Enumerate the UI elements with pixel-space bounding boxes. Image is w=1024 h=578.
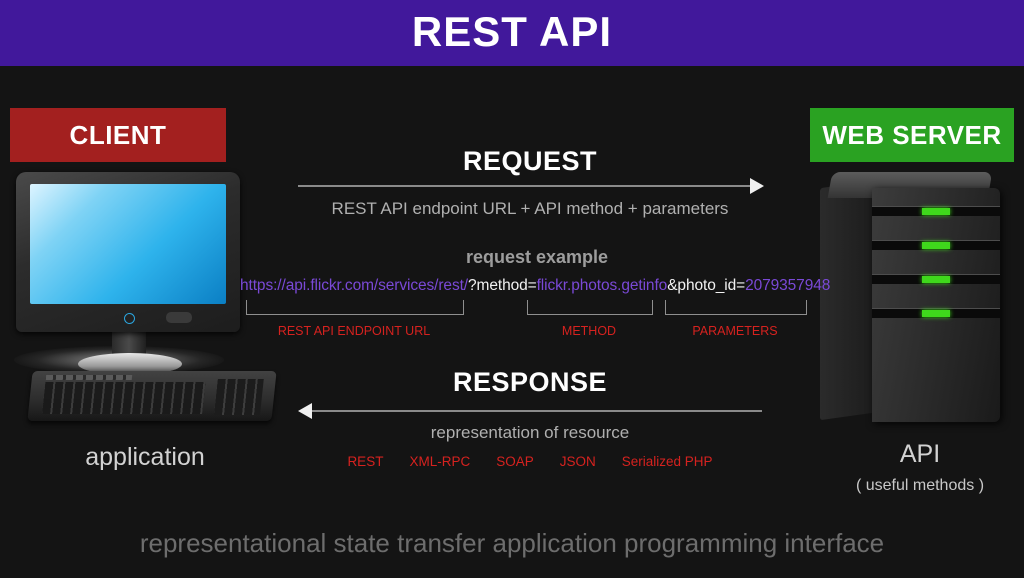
format-rest: REST (347, 454, 383, 469)
server-caption: API (820, 440, 1020, 469)
format-serialized-php: Serialized PHP (622, 454, 713, 469)
server-led-icon (922, 242, 950, 249)
annotation-label-method: METHOD (527, 324, 651, 338)
request-arrow-head-icon (750, 178, 764, 194)
desktop-computer-icon (8, 170, 288, 420)
page-title: REST API (0, 4, 1024, 60)
response-arrow-line (312, 410, 762, 412)
client-badge: CLIENT (10, 108, 226, 162)
monitor-screen (30, 184, 226, 304)
power-indicator-icon (124, 313, 135, 324)
server-caption-sub: ( useful methods ) (820, 477, 1020, 495)
url-segment-method-value: flickr.photos.getinfo (537, 277, 668, 294)
brace-parameters (665, 300, 807, 315)
server-led-icon (922, 208, 950, 215)
server-drive-slot (872, 240, 1000, 250)
server-led-icon (922, 276, 950, 283)
url-segment-param-key: &photo_id= (667, 277, 745, 294)
footer-caption: representational state transfer applicat… (0, 528, 1024, 559)
client-caption: application (10, 443, 280, 472)
keyboard-numpad (214, 379, 264, 415)
rest-api-diagram: REST API CLIENT WEB SERVER (0, 0, 1024, 578)
url-segment-method-key: ?method= (468, 277, 537, 294)
web-server-badge-label: WEB SERVER (822, 120, 1001, 151)
web-server-badge: WEB SERVER (810, 108, 1014, 162)
response-formats: RESTXML-RPCSOAPJSONSerialized PHP (290, 454, 770, 469)
response-arrow-head-icon (298, 403, 312, 419)
url-segment-param-value: 2079357948 (745, 277, 830, 294)
keyboard-icon (27, 371, 276, 421)
format-soap: SOAP (496, 454, 534, 469)
response-subtitle: representation of resource (290, 423, 770, 443)
request-arrow-line (298, 185, 750, 187)
monitor-body (16, 172, 240, 332)
server-front-panel (872, 188, 1000, 422)
server-side-panel (820, 180, 880, 420)
monitor-brand-plate (166, 312, 192, 323)
url-segment-endpoint: https://api.flickr.com/services/rest/ (240, 277, 468, 294)
response-title: RESPONSE (290, 367, 770, 398)
request-url-example: https://api.flickr.com/services/rest/?me… (240, 277, 820, 295)
format-xmlrpc: XML-RPC (409, 454, 470, 469)
server-tower-icon (820, 172, 1010, 430)
annotation-label-endpoint-url: REST API ENDPOINT URL (246, 324, 462, 338)
brace-method (527, 300, 653, 315)
keyboard-function-row (46, 375, 133, 380)
request-subtitle: REST API endpoint URL + API method + par… (280, 199, 780, 219)
format-json: JSON (560, 454, 596, 469)
server-drive-slot (872, 206, 1000, 216)
keyboard-main-keys (42, 382, 205, 414)
request-example-label: request example (262, 247, 812, 268)
server-drive-slot (872, 274, 1000, 284)
server-drive-slot (872, 308, 1000, 318)
server-led-icon (922, 310, 950, 317)
client-badge-label: CLIENT (70, 120, 167, 151)
brace-endpoint-url (246, 300, 464, 315)
annotation-label-parameters: PARAMETERS (665, 324, 805, 338)
request-title: REQUEST (290, 146, 770, 177)
